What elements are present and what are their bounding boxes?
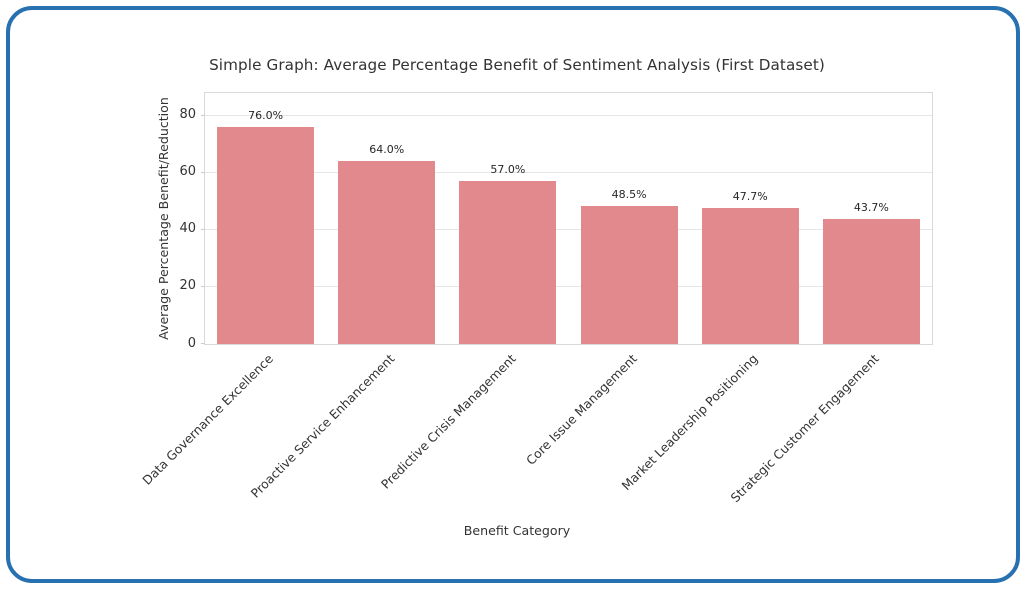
bar-value-label: 43.7% <box>854 201 889 214</box>
bar[interactable] <box>823 219 920 344</box>
figure-border: Simple Graph: Average Percentage Benefit… <box>6 6 1020 583</box>
y-tick-mark <box>201 286 205 287</box>
y-tick-mark <box>201 229 205 230</box>
x-axis-label: Benefit Category <box>10 523 1024 538</box>
y-tick-label: 0 <box>188 336 196 351</box>
x-tick-label: Market Leadership Positioning <box>619 351 761 493</box>
x-tick-label: Data Governance Excellence <box>139 351 276 488</box>
bar-value-label: 76.0% <box>248 109 283 122</box>
x-tick-label: Predictive Crisis Management <box>378 351 519 492</box>
bar-chart-figure: Simple Graph: Average Percentage Benefit… <box>10 10 1024 587</box>
y-tick-label: 80 <box>179 107 196 122</box>
gridline <box>205 115 932 116</box>
screenshot-root: Simple Graph: Average Percentage Benefit… <box>0 0 1026 589</box>
x-tick-label: Core Issue Management <box>523 351 640 468</box>
y-tick-label: 20 <box>179 278 196 293</box>
y-tick-mark <box>201 343 205 344</box>
bar[interactable] <box>702 208 799 344</box>
bar[interactable] <box>459 181 556 344</box>
bar-value-label: 48.5% <box>612 188 647 201</box>
y-tick-label: 40 <box>179 221 196 236</box>
bar[interactable] <box>338 161 435 344</box>
bar-value-label: 47.7% <box>733 190 768 203</box>
bar[interactable] <box>581 206 678 344</box>
y-tick-mark <box>201 172 205 173</box>
plot-area: 020406080 76.0%64.0%57.0%48.5%47.7%43.7%… <box>204 92 933 345</box>
y-axis-label: Average Percentage Benefit/Reduction <box>155 92 173 345</box>
y-tick-label: 60 <box>179 164 196 179</box>
chart-title: Simple Graph: Average Percentage Benefit… <box>10 56 1024 74</box>
bar-value-label: 57.0% <box>490 163 525 176</box>
x-tick-label: Proactive Service Enhancement <box>248 351 398 501</box>
x-tick-label: Strategic Customer Engagement <box>728 351 882 505</box>
bar-value-label: 64.0% <box>369 143 404 156</box>
gridline <box>205 172 932 173</box>
y-tick-mark <box>201 115 205 116</box>
bar[interactable] <box>217 127 314 344</box>
